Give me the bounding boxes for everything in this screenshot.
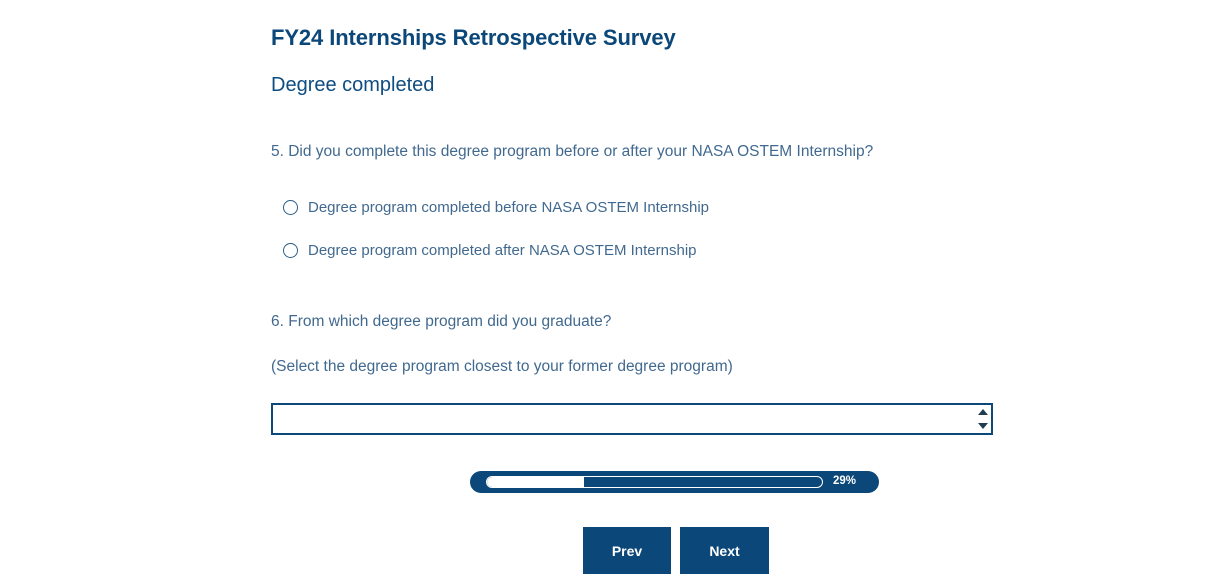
degree-program-select[interactable] xyxy=(271,403,993,435)
page-title: FY24 Internships Retrospective Survey xyxy=(271,25,676,51)
progress-bar: 29% xyxy=(470,471,879,493)
radio-option-label: Degree program completed after NASA OSTE… xyxy=(308,242,697,259)
radio-option-after[interactable]: Degree program completed after NASA OSTE… xyxy=(283,238,709,262)
progress-track xyxy=(486,476,823,488)
radio-option-label: Degree program completed before NASA OST… xyxy=(308,199,709,216)
question-6-text: 6. From which degree program did you gra… xyxy=(271,313,611,331)
prev-button[interactable]: Prev xyxy=(583,527,671,574)
navigation-buttons: Prev Next xyxy=(583,527,769,574)
progress-percent-label: 29% xyxy=(833,476,856,488)
question-5-options: Degree program completed before NASA OST… xyxy=(283,195,709,281)
radio-icon[interactable] xyxy=(283,200,298,215)
radio-option-before[interactable]: Degree program completed before NASA OST… xyxy=(283,195,709,219)
section-heading: Degree completed xyxy=(271,74,434,97)
question-5-text: 5. Did you complete this degree program … xyxy=(271,143,873,161)
radio-icon[interactable] xyxy=(283,243,298,258)
progress-fill xyxy=(487,477,584,487)
next-button[interactable]: Next xyxy=(680,527,769,574)
question-6-hint: (Select the degree program closest to yo… xyxy=(271,358,733,376)
survey-page: FY24 Internships Retrospective Survey De… xyxy=(0,0,1213,585)
